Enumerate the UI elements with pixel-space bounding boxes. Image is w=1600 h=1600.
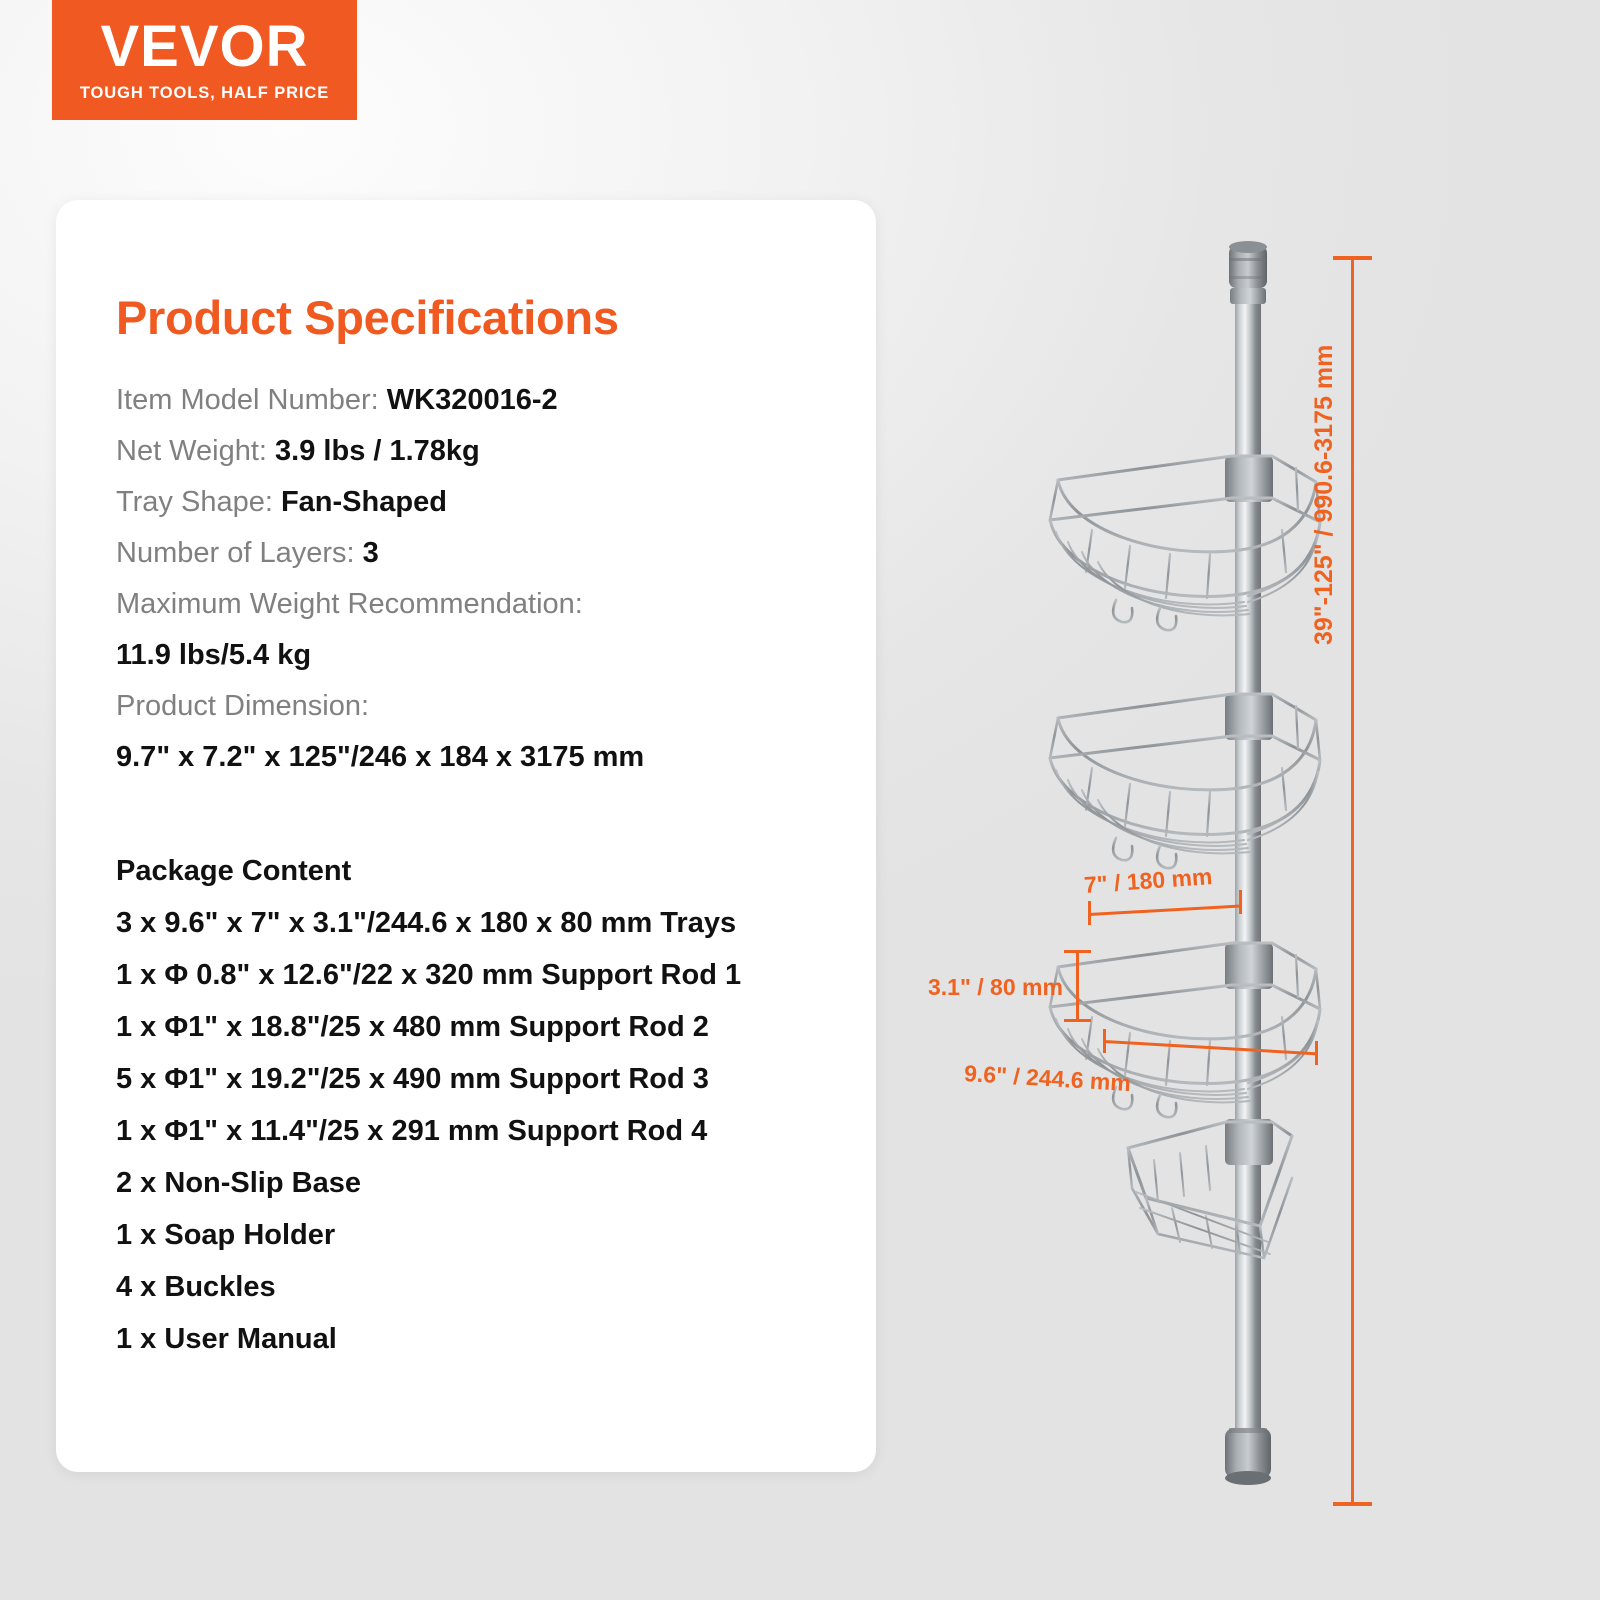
spec-row-tray-shape: Tray Shape: Fan-Shaped — [116, 477, 856, 528]
spec-row-layers: Number of Layers: 3 — [116, 528, 856, 579]
height-dimension-tick-bottom — [1333, 1502, 1372, 1506]
page-root: VEVOR TOUGH TOOLS, HALF PRICE Product Sp… — [0, 0, 1600, 1600]
spec-label-tray-shape: Tray Shape: — [116, 486, 281, 518]
soap-holder-basket — [1128, 1119, 1292, 1258]
spec-row-model: Item Model Number: WK320016-2 — [116, 375, 856, 426]
package-item-soap-holder: 1 x Soap Holder — [116, 1209, 876, 1261]
package-item-trays: 3 x 9.6" x 7" x 3.1"/244.6 x 180 x 80 mm… — [116, 897, 876, 949]
page-title: Product Specifications — [116, 290, 619, 345]
package-content-heading: Package Content — [116, 845, 876, 897]
specification-list: Item Model Number: WK320016-2 Net Weight… — [116, 375, 856, 783]
spec-label-layers: Number of Layers: — [116, 537, 363, 569]
spec-value-net-weight: 3.9 lbs / 1.78kg — [275, 435, 480, 467]
product-specifications-card: Product Specifications Item Model Number… — [56, 200, 876, 1472]
brand-wordmark: VEVOR — [100, 18, 308, 76]
package-item-non-slip-base: 2 x Non-Slip Base — [116, 1157, 876, 1209]
spec-value-layers: 3 — [363, 537, 379, 569]
pole-bottom-foot — [1225, 1428, 1271, 1485]
pole-joint-upper — [1230, 288, 1266, 304]
package-item-support-rod-3: 5 x Φ1" x 19.2"/25 x 490 mm Support Rod … — [116, 1053, 876, 1105]
spec-label-model: Item Model Number: — [116, 384, 387, 416]
package-item-buckles: 4 x Buckles — [116, 1261, 876, 1313]
spec-value-tray-shape: Fan-Shaped — [281, 486, 447, 518]
tray-basket-2 — [1050, 694, 1320, 868]
package-content-block: Package Content 3 x 9.6" x 7" x 3.1"/244… — [116, 845, 876, 1365]
spec-label-product-dimension: Product Dimension: — [116, 681, 856, 732]
spec-value-max-weight: 11.9 lbs/5.4 kg — [116, 630, 856, 681]
tray-height-tick-bottom — [1064, 1019, 1091, 1022]
package-item-support-rod-4: 1 x Φ1" x 11.4"/25 x 291 mm Support Rod … — [116, 1105, 876, 1157]
dimension-label-overall-height: 39"-125" / 990.6-3175 mm — [1310, 225, 1339, 645]
spec-row-net-weight: Net Weight: 3.9 lbs / 1.78kg — [116, 426, 856, 477]
bottom-width-tick-right — [1315, 1041, 1318, 1065]
height-dimension-line — [1351, 256, 1354, 1506]
tray-height-dimension-line — [1076, 951, 1079, 1021]
spec-label-max-weight: Maximum Weight Recommendation: — [116, 579, 856, 630]
package-item-support-rod-1: 1 x Φ 0.8" x 12.6"/22 x 320 mm Support R… — [116, 949, 876, 1001]
vevor-logo: VEVOR TOUGH TOOLS, HALF PRICE — [52, 0, 357, 120]
spec-label-net-weight: Net Weight: — [116, 435, 275, 467]
spec-value-model: WK320016-2 — [387, 384, 558, 416]
dimension-label-tray-height: 3.1" / 80 mm — [928, 974, 1063, 1001]
package-item-user-manual: 1 x User Manual — [116, 1313, 876, 1365]
top-width-tick-right — [1239, 890, 1242, 914]
brand-tagline: TOUGH TOOLS, HALF PRICE — [80, 85, 329, 102]
pole-top-cap — [1229, 241, 1267, 288]
package-item-support-rod-2: 1 x Φ1" x 18.8"/25 x 480 mm Support Rod … — [116, 1001, 876, 1053]
spec-value-product-dimension: 9.7" x 7.2" x 125"/246 x 184 x 3175 mm — [116, 732, 856, 783]
tray-basket-1 — [1050, 456, 1320, 630]
